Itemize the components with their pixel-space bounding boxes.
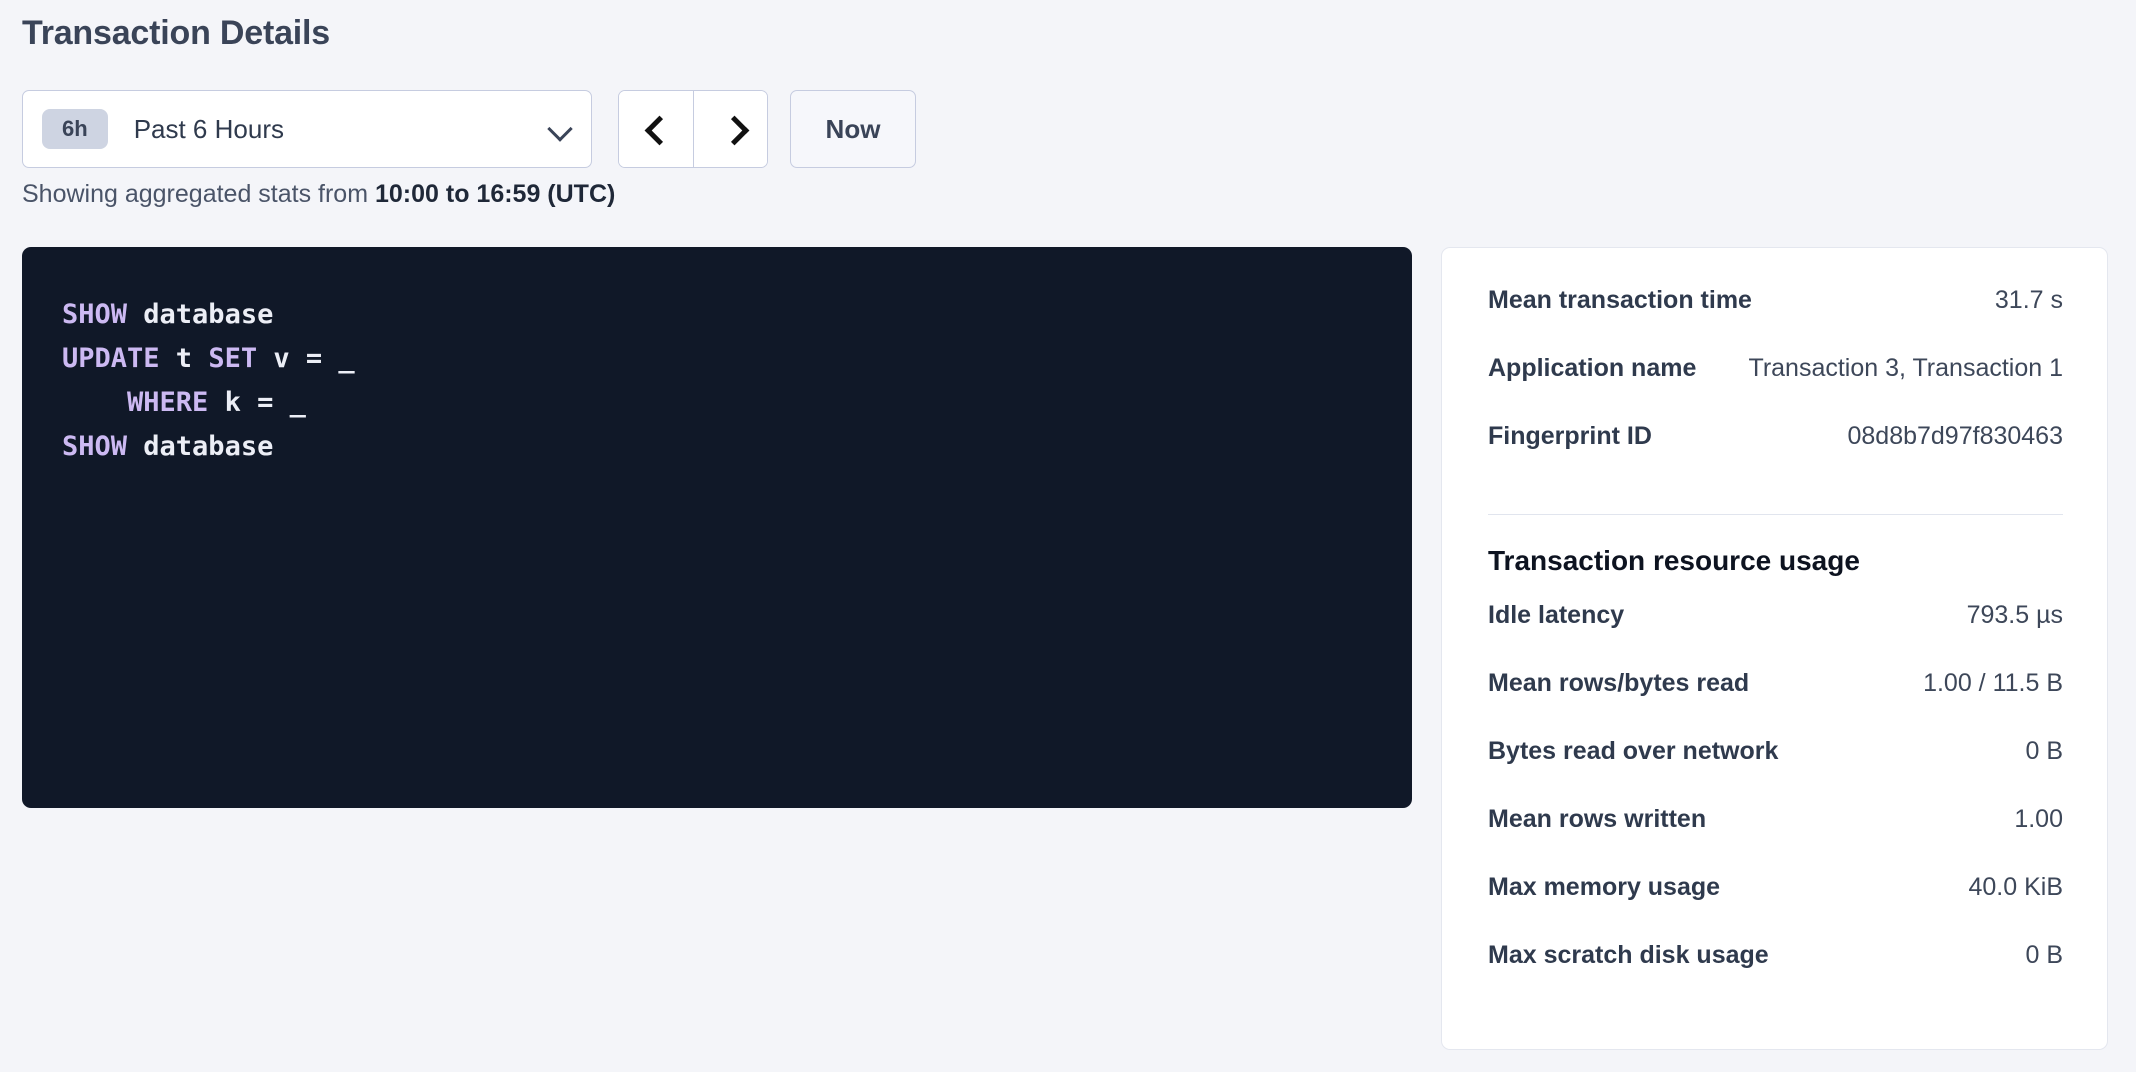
stat-row: Fingerprint ID 08d8b7d97f830463 <box>1488 422 2063 490</box>
stat-value: 1.00 / 11.5 B <box>1907 669 2063 698</box>
sql-keyword: SHOW <box>62 299 127 330</box>
toolbar: 6h Past 6 Hours Now <box>22 90 916 168</box>
sql-identifier: v = _ <box>257 343 355 374</box>
sql-keyword: WHERE <box>127 387 208 418</box>
next-period-button[interactable] <box>693 91 767 167</box>
sql-indent <box>62 387 127 418</box>
stat-label: Fingerprint ID <box>1488 422 1652 451</box>
stat-row: Max scratch disk usage 0 B <box>1488 941 2063 1009</box>
resource-stats-list: Idle latency 793.5 µs Mean rows/bytes re… <box>1488 601 2063 1009</box>
stat-label: Max memory usage <box>1488 873 1720 902</box>
aggregation-range-prefix: Showing aggregated stats from <box>22 180 375 208</box>
chevron-left-icon <box>646 119 666 139</box>
time-range-badge: 6h <box>42 109 108 149</box>
stat-row: Idle latency 793.5 µs <box>1488 601 2063 669</box>
stat-label: Mean transaction time <box>1488 286 1752 315</box>
stat-value: 0 B <box>2009 941 2063 970</box>
stat-row: Mean rows written 1.00 <box>1488 805 2063 873</box>
stat-value: 40.0 KiB <box>1952 873 2063 902</box>
sql-identifier: database <box>127 431 273 462</box>
chevron-right-icon <box>721 119 741 139</box>
stat-row: Mean rows/bytes read 1.00 / 11.5 B <box>1488 669 2063 737</box>
resource-usage-heading: Transaction resource usage <box>1488 545 2063 577</box>
time-range-label: Past 6 Hours <box>134 114 284 145</box>
transaction-stats-panel: Mean transaction time 31.7 s Application… <box>1441 247 2108 1050</box>
stat-label: Max scratch disk usage <box>1488 941 1769 970</box>
stat-value: 793.5 µs <box>1951 601 2063 630</box>
sql-line: UPDATE t SET v = _ <box>62 337 1372 381</box>
sql-identifier: t <box>160 343 209 374</box>
sql-line: SHOW database <box>62 293 1372 337</box>
stat-value: 0 B <box>2009 737 2063 766</box>
stat-row: Mean transaction time 31.7 s <box>1488 286 2063 354</box>
stat-label: Mean rows written <box>1488 805 1706 834</box>
page-title: Transaction Details <box>22 14 330 53</box>
section-divider <box>1488 514 2063 515</box>
stat-label: Idle latency <box>1488 601 1624 630</box>
now-button[interactable]: Now <box>790 90 916 168</box>
time-range-select[interactable]: 6h Past 6 Hours <box>22 90 592 168</box>
stat-row: Bytes read over network 0 B <box>1488 737 2063 805</box>
stat-value: 08d8b7d97f830463 <box>1831 422 2063 451</box>
stat-value: Transaction 3, Transaction 1 <box>1732 354 2063 383</box>
sql-statement-panel: SHOW database UPDATE t SET v = _ WHERE k… <box>22 247 1412 808</box>
sql-identifier: k = _ <box>208 387 306 418</box>
previous-period-button[interactable] <box>619 91 693 167</box>
time-nav-group <box>618 90 768 168</box>
stat-value: 31.7 s <box>1979 286 2063 315</box>
sql-keyword: SET <box>208 343 257 374</box>
stat-label: Mean rows/bytes read <box>1488 669 1749 698</box>
chevron-down-icon <box>549 118 571 140</box>
summary-stats-list: Mean transaction time 31.7 s Application… <box>1488 286 2063 490</box>
stat-label: Bytes read over network <box>1488 737 1778 766</box>
aggregation-range-text: Showing aggregated stats from 10:00 to 1… <box>22 180 615 209</box>
stat-label: Application name <box>1488 354 1696 383</box>
stat-value: 1.00 <box>1998 805 2063 834</box>
sql-line: SHOW database <box>62 425 1372 469</box>
stat-row: Max memory usage 40.0 KiB <box>1488 873 2063 941</box>
sql-identifier: database <box>127 299 273 330</box>
transaction-details-page: Transaction Details 6h Past 6 Hours Now … <box>0 0 2136 1072</box>
stat-row: Application name Transaction 3, Transact… <box>1488 354 2063 422</box>
sql-keyword: UPDATE <box>62 343 160 374</box>
sql-line: WHERE k = _ <box>62 381 1372 425</box>
aggregation-range-value: 10:00 to 16:59 (UTC) <box>375 180 615 208</box>
sql-keyword: SHOW <box>62 431 127 462</box>
